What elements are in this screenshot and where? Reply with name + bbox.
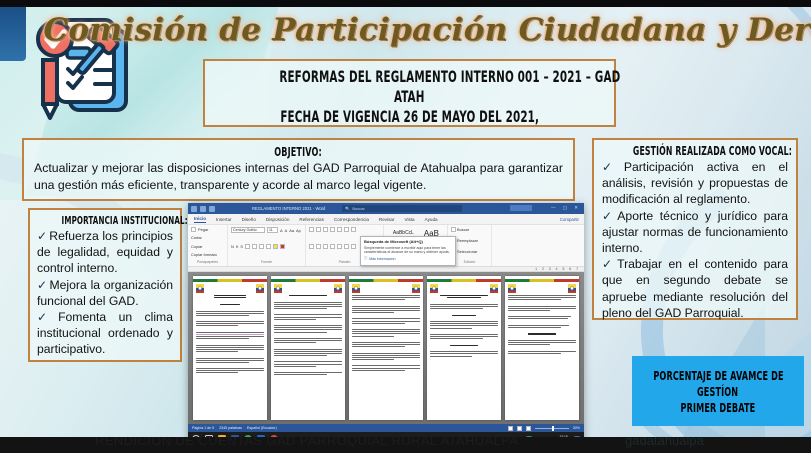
print-layout-icon[interactable] <box>508 426 513 431</box>
coat-of-arms-icon <box>430 284 438 293</box>
subtitle-line-2-text: ATAH <box>394 87 425 106</box>
document-page[interactable] <box>505 276 579 420</box>
tab-disposicion[interactable]: Disposición <box>266 217 290 222</box>
web-layout-icon[interactable] <box>517 426 522 431</box>
word-account-chip[interactable] <box>510 205 532 211</box>
ribbon-group-font: Century Gothic 11 A A Aa Ap N K S <box>228 225 306 266</box>
paragraph-row-1 <box>309 227 380 232</box>
page-banner <box>193 279 267 282</box>
check-icon: ✓ <box>602 209 617 223</box>
coat-of-arms-icon <box>490 284 498 293</box>
tab-revisar[interactable]: Revisar <box>379 217 395 222</box>
search-icon <box>451 227 456 232</box>
redo-icon[interactable] <box>209 206 215 212</box>
undo-icon[interactable] <box>200 206 206 212</box>
cut-button[interactable]: Cortar <box>191 235 224 240</box>
coat-of-arms-icon <box>352 284 360 293</box>
subtitle-line-2: ATAH <box>213 87 606 107</box>
page-body <box>508 295 576 354</box>
zoom-slider-handle[interactable] <box>552 426 554 431</box>
paste-label[interactable]: Pegar <box>198 227 208 232</box>
font-selector-row: Century Gothic 11 A A Aa Ap <box>231 227 302 233</box>
ribbon-group-clipboard: Pegar Cortar Copiar Copiar formato Porta… <box>188 225 228 266</box>
page-banner <box>505 279 579 282</box>
strikethrough-icon[interactable] <box>245 244 250 249</box>
footer-ghost-text: RENDICION DE CUENTAS GAD PARROQUIAL RURA… <box>95 437 518 448</box>
word-ribbon-tabs: Inicio Insertar Diseño Disposición Refer… <box>188 214 584 225</box>
check-icon: ✓ <box>602 160 624 174</box>
justify-icon[interactable] <box>330 244 335 249</box>
borders-icon[interactable] <box>351 244 356 249</box>
page-banner <box>349 279 423 282</box>
percent-line-3: PRIMER DEBATE <box>666 400 770 415</box>
share-button[interactable]: Compartir <box>560 217 579 222</box>
objective-body: Actualizar y mejorar las disposiciones i… <box>34 160 563 193</box>
align-center-icon[interactable] <box>316 244 321 249</box>
sort-icon[interactable] <box>344 227 349 232</box>
read-mode-icon[interactable] <box>526 426 531 431</box>
shading-icon[interactable] <box>344 244 349 249</box>
word-count[interactable]: 2345 palabras <box>219 426 242 430</box>
zoom-level[interactable]: 30% <box>573 426 580 430</box>
underline-button[interactable]: S <box>240 244 243 249</box>
vocal-management-box: GESTIÓN REALIZADA COMO VOCAL: ✓Participa… <box>592 138 798 320</box>
superscript-icon[interactable] <box>259 244 264 249</box>
document-page[interactable] <box>349 276 423 420</box>
tooltip-more-info-link[interactable]: ⓘ Más información <box>364 256 452 261</box>
clipboard-group-label: Portapapeles <box>191 260 224 264</box>
tab-inicio[interactable]: Inicio <box>194 216 206 223</box>
page-body <box>430 295 498 356</box>
word-status-bar: Página 1 de 5 2345 palabras Español (Ecu… <box>188 424 584 432</box>
page-banner <box>427 279 501 282</box>
italic-button[interactable]: K <box>236 244 239 249</box>
subtitle-line-1: REFORMAS DEL REGLAMENTO INTERNO 001 – 20… <box>213 67 606 87</box>
vocal-heading: GESTIÓN REALIZADA COMO VOCAL: <box>602 144 788 158</box>
subtitle-line-1-text: REFORMAS DEL REGLAMENTO INTERNO 001 – 20… <box>279 67 620 86</box>
text-effects-icon[interactable] <box>266 244 271 249</box>
tab-ayuda[interactable]: Ayuda <box>425 217 438 222</box>
zoom-slider[interactable] <box>535 428 569 429</box>
tab-insertar[interactable]: Insertar <box>216 217 232 222</box>
align-left-icon[interactable] <box>309 244 314 249</box>
footer-ghost-text-right: gadatahualpa <box>625 437 704 448</box>
bold-button[interactable]: N <box>231 244 234 249</box>
page-title-text: Comisión de Participación Ciudadana y De… <box>43 12 811 48</box>
tab-referencias[interactable]: Referencias <box>299 217 324 222</box>
editing-group-label: Edición <box>451 260 488 264</box>
coat-of-arms-icon <box>568 284 576 293</box>
importance-heading: IMPORTANCIA INSTITUCIONAL: <box>37 214 173 227</box>
document-page[interactable] <box>193 276 267 420</box>
save-icon[interactable] <box>191 206 197 212</box>
replace-button[interactable]: Reemplazar <box>451 238 488 243</box>
page-body <box>274 295 342 375</box>
decor-corner-tab <box>0 7 26 61</box>
page-body <box>196 295 264 373</box>
document-page[interactable] <box>271 276 345 420</box>
top-letterbox-band <box>0 0 811 7</box>
font-size-input[interactable]: 11 <box>267 227 278 233</box>
page-title: Comisión de Participación Ciudadana y De… <box>150 6 805 54</box>
find-button[interactable]: Buscar <box>451 227 488 232</box>
word-document-title: REGLAMENTO INTERNO 2021 - Word <box>252 206 325 211</box>
check-icon: ✓ <box>37 310 58 324</box>
vocal-item: ✓Trabajar en el contenido para que en se… <box>602 256 788 321</box>
font-group-label: Fuente <box>231 260 302 264</box>
coat-of-arms-icon <box>196 284 204 293</box>
check-icon: ✓ <box>602 257 617 271</box>
vocal-item: ✓Participación activa en el análisis, re… <box>602 159 788 208</box>
importance-item: ✓Fomenta un clima institucional ordenado… <box>37 309 173 358</box>
objective-heading: OBJETIVO: <box>34 144 563 159</box>
subscript-icon[interactable] <box>252 244 257 249</box>
search-icon: 🔍 <box>345 206 350 211</box>
line-spacing-icon[interactable] <box>337 244 342 249</box>
word-screenshot-image: REGLAMENTO INTERNO 2021 - Word 🔍 Buscar … <box>188 203 584 445</box>
check-icon: ✓ <box>37 229 49 243</box>
search-tooltip: Búsqueda de Microsoft (Alt+Q) Simplement… <box>360 236 456 266</box>
importance-item: ✓Refuerza los principios de legalidad, e… <box>37 228 173 277</box>
show-marks-icon[interactable] <box>351 227 356 232</box>
font-style-row: N K S <box>231 244 302 249</box>
tab-correspondencia[interactable]: Correspondencia <box>334 217 369 222</box>
paste-icon[interactable] <box>191 227 196 232</box>
clear-format-button[interactable]: Ap <box>296 228 301 233</box>
tooltip-body: Simplemente comience a escribir aquí par… <box>364 246 452 255</box>
status-right: 30% <box>508 426 580 431</box>
numbering-icon[interactable] <box>316 227 321 232</box>
change-case-button[interactable]: Aa <box>289 228 294 233</box>
page-header <box>430 284 498 293</box>
page-header <box>196 284 264 293</box>
font-color-icon[interactable] <box>280 244 285 249</box>
check-icon: ✓ <box>37 278 50 292</box>
progress-percentage-box: PORCENTAJE DE AVAMCE DE GESTÍON PRIMER D… <box>632 356 804 426</box>
vocal-item: ✓Aporte técnico y jurídico para ajustar … <box>602 208 788 257</box>
bottom-letterbox-band: RENDICION DE CUENTAS GAD PARROQUIAL RURA… <box>0 437 811 453</box>
coat-of-arms-icon <box>274 284 282 293</box>
subtitle-line-3: FECHA DE VIGENCIA 26 DE MAYO DEL 2021, <box>213 107 606 127</box>
page-header <box>508 284 576 293</box>
word-search-placeholder: Buscar <box>352 206 364 211</box>
coat-of-arms-icon <box>508 284 516 293</box>
word-ribbon: Pegar Cortar Copiar Copiar formato Porta… <box>188 225 584 267</box>
document-page[interactable] <box>427 276 501 420</box>
copy-button[interactable]: Copiar <box>191 244 224 249</box>
multilevel-list-icon[interactable] <box>323 227 328 232</box>
percent-line-2: GESTÍON <box>689 384 746 399</box>
info-icon: ⓘ <box>364 256 368 261</box>
coat-of-arms-icon <box>256 284 264 293</box>
poster-slide: Comisión de Participación Ciudadana y De… <box>0 0 811 453</box>
tab-diseno[interactable]: Diseño <box>242 217 256 222</box>
coat-of-arms-icon <box>412 284 420 293</box>
tab-vista[interactable]: Vista <box>404 217 414 222</box>
paste-row: Pegar <box>191 227 224 232</box>
increase-indent-icon[interactable] <box>337 227 342 232</box>
page-info[interactable]: Página 1 de 5 <box>192 426 214 430</box>
word-search-box[interactable]: 🔍 Buscar <box>342 205 462 212</box>
tooltip-title: Búsqueda de Microsoft (Alt+Q) <box>364 239 452 244</box>
importance-box: IMPORTANCIA INSTITUCIONAL: ✓Refuerza los… <box>28 208 182 362</box>
importance-item: ✓Mejora la organización funcional del GA… <box>37 277 173 309</box>
shrink-font-button[interactable]: A <box>285 228 288 233</box>
coat-of-arms-icon <box>334 284 342 293</box>
highlight-color-icon[interactable] <box>273 244 278 249</box>
subtitle-box: REFORMAS DEL REGLAMENTO INTERNO 001 – 20… <box>203 59 616 127</box>
decrease-indent-icon[interactable] <box>330 227 335 232</box>
font-name-input[interactable]: Century Gothic <box>231 227 265 233</box>
word-document-canvas[interactable] <box>188 272 584 424</box>
page-banner <box>271 279 345 282</box>
format-painter-button[interactable]: Copiar formato <box>191 252 224 257</box>
subtitle-line-3-text: FECHA DE VIGENCIA 26 DE MAYO DEL 2021, <box>280 107 539 126</box>
grow-font-button[interactable]: A <box>280 228 283 233</box>
bullets-icon[interactable] <box>309 227 314 232</box>
window-controls[interactable]: — ▢ ✕ <box>551 205 581 211</box>
select-button[interactable]: Seleccionar <box>451 249 488 254</box>
page-body <box>352 295 420 371</box>
language-indicator[interactable]: Español (Ecuador) <box>247 426 277 430</box>
page-header <box>352 284 420 293</box>
objective-box: OBJETIVO: Actualizar y mejorar las dispo… <box>22 138 575 201</box>
ruler-ticks: 1 2 3 4 5 6 7 <box>535 267 580 271</box>
word-title-bar: REGLAMENTO INTERNO 2021 - Word 🔍 Buscar … <box>188 203 584 214</box>
percent-line-1: PORCENTAJE DE AVAMCE DE <box>628 368 809 383</box>
align-right-icon[interactable] <box>323 244 328 249</box>
page-header <box>274 284 342 293</box>
